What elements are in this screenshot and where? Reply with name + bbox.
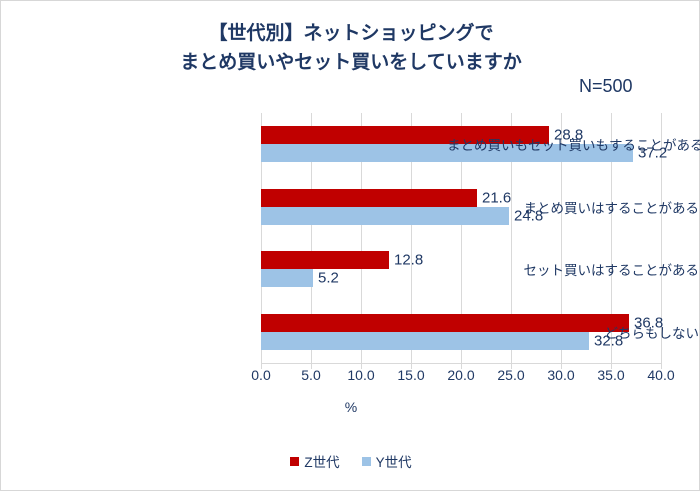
chart-title: 【世代別】ネットショッピングで まとめ買いやセット買いをしていますか: [1, 19, 700, 77]
bar-1-0: [261, 189, 477, 207]
value-label-0-0: 28.8: [554, 127, 583, 144]
x-tick-label-4: 20.0: [447, 367, 474, 383]
x-tick-label-6: 30.0: [547, 367, 574, 383]
chart-figure: 【世代別】ネットショッピングで まとめ買いやセット買いをしていますか N=500…: [0, 0, 700, 491]
chart-legend: Z世代 Y世代: [1, 451, 700, 471]
x-tick-label-3: 15.0: [397, 367, 424, 383]
legend-label-1: Y世代: [376, 451, 412, 471]
value-label-2-1: 5.2: [318, 270, 339, 287]
legend-item-1[interactable]: Y世代: [362, 451, 412, 471]
x-tick-label-2: 10.0: [347, 367, 374, 383]
bar-2-0: [261, 251, 389, 269]
value-label-1-1: 24.8: [514, 207, 543, 224]
chart-title-line-2: まとめ買いやセット買いをしていますか: [1, 48, 700, 77]
x-tick-label-5: 25.0: [497, 367, 524, 383]
value-label-3-0: 36.8: [634, 314, 663, 331]
category-label-2: セット買いはすることがある: [447, 259, 699, 279]
value-label-1-0: 21.6: [482, 189, 511, 206]
legend-item-0[interactable]: Z世代: [290, 451, 339, 471]
x-axis-title: %: [1, 399, 700, 415]
x-tick-label-8: 40.0: [647, 367, 674, 383]
chart-title-line-1: 【世代別】ネットショッピングで: [1, 19, 700, 48]
legend-swatch-icon-1: [362, 457, 371, 466]
sample-size-annotation: N=500: [579, 76, 633, 97]
x-tick-label-1: 5.0: [301, 367, 320, 383]
x-tick-label-0: 0.0: [251, 367, 270, 383]
value-label-0-1: 37.2: [638, 145, 667, 162]
legend-label-0: Z世代: [304, 451, 339, 471]
bar-2-1: [261, 269, 313, 287]
legend-swatch-icon-0: [290, 457, 299, 466]
value-label-3-1: 32.8: [594, 332, 623, 349]
x-axis-baseline: [261, 363, 662, 364]
value-label-2-0: 12.8: [394, 252, 423, 269]
x-tick-label-7: 35.0: [597, 367, 624, 383]
